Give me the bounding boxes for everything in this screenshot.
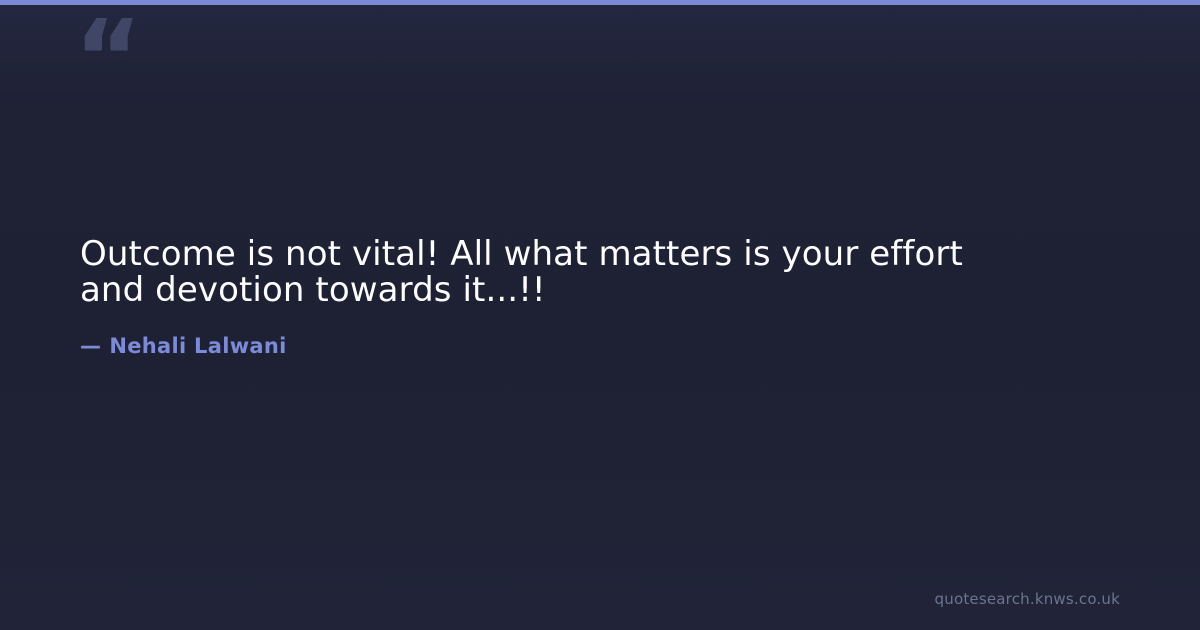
attribution-dash: — — [80, 334, 101, 358]
author-name: Nehali Lalwani — [109, 334, 286, 358]
site-watermark: quotesearch.knws.co.uk — [935, 590, 1120, 608]
open-quote-icon: “ — [74, 6, 140, 110]
quote-card: “ Outcome is not vital! All what matters… — [0, 0, 1200, 630]
quote-content: Outcome is not vital! All what matters i… — [80, 236, 1080, 358]
top-accent-bar — [0, 0, 1200, 5]
quote-attribution: —Nehali Lalwani — [80, 309, 1080, 358]
quote-text: Outcome is not vital! All what matters i… — [80, 236, 995, 309]
